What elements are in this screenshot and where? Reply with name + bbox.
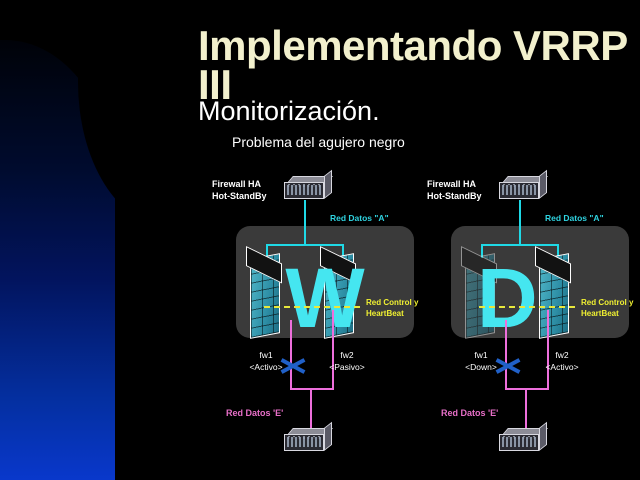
label-top-network-left: Red Datos "A"	[330, 213, 389, 223]
switch-side-face	[539, 422, 547, 451]
fw-name: fw2	[324, 350, 370, 362]
firewall-caption-fw1-left: fw1 <Activo>	[243, 350, 289, 374]
control-label-line2: HeartBeat	[366, 309, 422, 320]
control-label-line2: HeartBeat	[581, 309, 637, 320]
label-control-net-right: Red Control y HeartBeat	[581, 298, 637, 320]
fw-name: fw1	[243, 350, 289, 362]
firewall-caption-fw1-right: fw1 <Down>	[458, 350, 504, 374]
diagram-right: Firewall HA Hot-StandBy Red Datos "A"	[415, 160, 635, 480]
fw-state: <Activo>	[243, 362, 289, 374]
switch-port-row	[287, 437, 321, 447]
switch-port-row	[502, 437, 536, 447]
switch-port-row	[287, 185, 321, 195]
control-label-line1: Red Control y	[366, 298, 422, 309]
link-cyan-trunk-right	[519, 200, 521, 246]
fw-name: fw2	[539, 350, 585, 362]
link-magenta-trunk-right	[525, 388, 527, 432]
firewall-caption-fw2-left: fw2 <Pasivo>	[324, 350, 370, 374]
fw-name: fw1	[458, 350, 504, 362]
diagram-scene: Firewall HA Hot-StandBy Red Datos "A"	[0, 160, 640, 480]
heartbeat-link-right	[479, 306, 575, 308]
page-subtitle: Monitorización.	[198, 98, 628, 125]
slide-canvas: Implementando VRRP III Monitorización. P…	[0, 0, 640, 480]
fw-state: <Activo>	[539, 362, 585, 374]
switch-icon-bottom-right	[499, 428, 547, 452]
fw-state: <Down>	[458, 362, 504, 374]
label-bottom-network-left: Red Datos 'E'	[226, 408, 283, 418]
firewall-caption-fw2-right: fw2 <Activo>	[539, 350, 585, 374]
label-top-network-right: Red Datos "A"	[545, 213, 604, 223]
page-subsubtitle: Problema del agujero negro	[232, 134, 632, 150]
link-magenta-trunk-left	[310, 388, 312, 432]
link-magenta-fw1-left	[290, 320, 292, 390]
heartbeat-link-left	[264, 306, 360, 308]
switch-icon-bottom-left	[284, 428, 332, 452]
switch-side-face	[539, 170, 547, 199]
switch-side-face	[324, 170, 332, 199]
switch-icon-top-left	[284, 176, 332, 200]
page-title: Implementando VRRP III	[198, 26, 628, 104]
label-bottom-network-right: Red Datos 'E'	[441, 408, 498, 418]
switch-port-row	[502, 185, 536, 195]
fw-state: <Pasivo>	[324, 362, 370, 374]
control-label-line1: Red Control y	[581, 298, 637, 309]
label-control-net-left: Red Control y HeartBeat	[366, 298, 422, 320]
link-cyan-trunk-left	[304, 200, 306, 246]
diagram-left: Firewall HA Hot-StandBy Red Datos "A"	[200, 160, 420, 480]
switch-side-face	[324, 422, 332, 451]
switch-icon-top-right	[499, 176, 547, 200]
link-magenta-fw1-right	[505, 320, 507, 390]
